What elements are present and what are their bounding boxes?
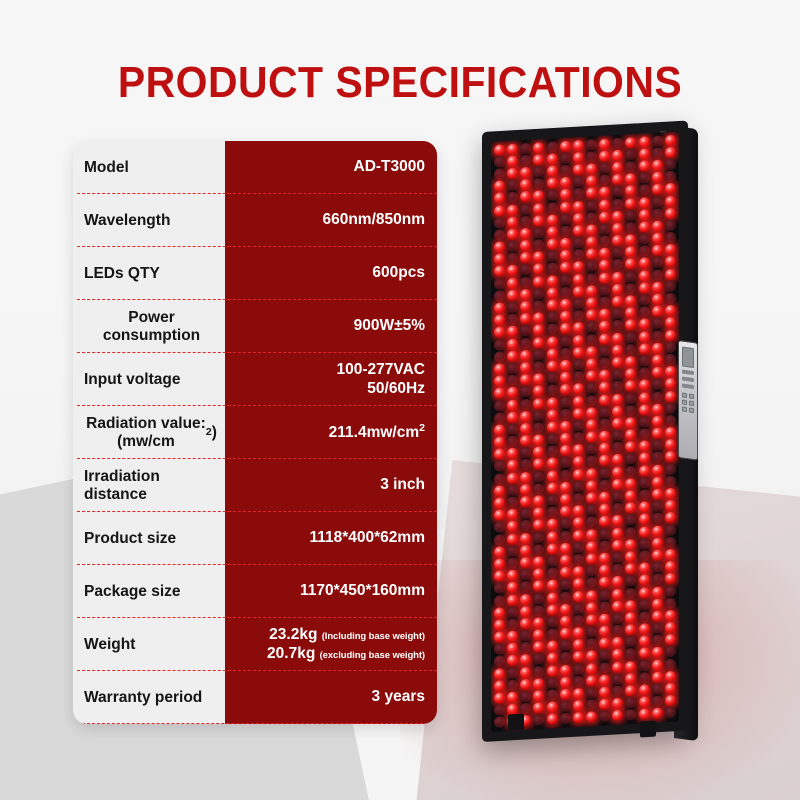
led-unlit bbox=[547, 251, 558, 263]
led-lit bbox=[652, 476, 663, 488]
led-unlit bbox=[625, 453, 636, 465]
spec-row: Warranty period3 years bbox=[73, 671, 437, 724]
led-unlit bbox=[573, 663, 584, 675]
control-panel[interactable] bbox=[678, 340, 698, 461]
led-lit bbox=[507, 216, 518, 228]
led-lit bbox=[612, 515, 623, 527]
led-lit bbox=[625, 624, 636, 636]
led-unlit bbox=[560, 713, 571, 725]
led-unlit bbox=[560, 225, 571, 237]
led-unlit bbox=[639, 294, 650, 306]
led-lit bbox=[560, 494, 571, 506]
led-unlit bbox=[625, 648, 636, 660]
led-lit bbox=[665, 268, 676, 280]
led-lit bbox=[612, 539, 623, 551]
led-lit bbox=[494, 509, 505, 521]
led-unlit bbox=[586, 200, 597, 212]
led-unlit bbox=[507, 679, 518, 691]
led-lit bbox=[507, 289, 518, 301]
led-lit bbox=[652, 293, 663, 305]
led-lit bbox=[560, 420, 571, 432]
led-lit bbox=[639, 160, 650, 172]
led-lit bbox=[665, 195, 676, 207]
led-lit bbox=[494, 144, 505, 156]
spec-row: Powerconsumption900W±5% bbox=[73, 300, 437, 353]
led-lit bbox=[599, 638, 610, 650]
led-lit bbox=[652, 647, 663, 659]
spec-value: 211.4mw/cm2 bbox=[225, 406, 437, 459]
led-unlit bbox=[560, 579, 571, 591]
spec-label: Package size bbox=[73, 565, 225, 618]
device-foot bbox=[640, 721, 656, 738]
led-lit bbox=[547, 604, 558, 616]
led-unlit bbox=[560, 286, 571, 298]
led-unlit bbox=[560, 530, 571, 542]
led-lit bbox=[612, 710, 623, 722]
led-unlit bbox=[612, 491, 623, 503]
spec-row: Product size1118*400*62mm bbox=[73, 512, 437, 565]
led-unlit bbox=[507, 667, 518, 679]
led-lit bbox=[586, 431, 597, 443]
led-unlit bbox=[625, 514, 636, 526]
led-lit bbox=[560, 689, 571, 701]
led-unlit bbox=[547, 494, 558, 506]
control-panel-button[interactable] bbox=[689, 400, 694, 406]
control-panel-buttons[interactable] bbox=[682, 393, 694, 414]
led-lit bbox=[625, 173, 636, 185]
led-lit bbox=[533, 568, 544, 580]
led-lit bbox=[520, 484, 531, 496]
spec-row: Package size1170*450*160mm bbox=[73, 565, 437, 618]
led-unlit bbox=[520, 398, 531, 410]
led-lit bbox=[573, 700, 584, 712]
led-lit bbox=[639, 709, 650, 721]
red-light-therapy-panel bbox=[482, 118, 712, 758]
led-lit bbox=[533, 495, 544, 507]
product-specifications-slide: PRODUCT SPECIFICATIONS ModelAD-T3000Wave… bbox=[0, 0, 800, 800]
led-lit bbox=[612, 527, 623, 539]
spec-row: Radiation value:(mw/cm2 )211.4mw/cm2 bbox=[73, 406, 437, 459]
led-unlit bbox=[639, 233, 650, 245]
led-lit bbox=[520, 496, 531, 508]
led-unlit bbox=[573, 603, 584, 615]
led-unlit bbox=[652, 562, 663, 574]
led-lit bbox=[639, 684, 650, 696]
led-unlit bbox=[599, 479, 610, 491]
led-unlit bbox=[665, 536, 676, 548]
led-unlit bbox=[665, 171, 676, 183]
led-unlit bbox=[665, 354, 676, 366]
led-lit bbox=[520, 228, 531, 240]
led-lit bbox=[665, 207, 676, 219]
led-unlit bbox=[520, 459, 531, 471]
led-unlit bbox=[665, 402, 676, 414]
device-led-face bbox=[491, 131, 679, 732]
led-lit bbox=[652, 172, 663, 184]
led-unlit bbox=[560, 274, 571, 286]
led-lit bbox=[639, 343, 650, 355]
led-unlit bbox=[573, 237, 584, 249]
spec-row: Weight23.2kg (Including base weight)20.7… bbox=[73, 618, 437, 671]
led-lit bbox=[625, 319, 636, 331]
led-unlit bbox=[639, 611, 650, 623]
led-unlit bbox=[652, 440, 663, 452]
led-lit bbox=[507, 631, 518, 643]
led-lit bbox=[625, 258, 636, 270]
led-unlit bbox=[507, 241, 518, 253]
led-lit bbox=[612, 454, 623, 466]
led-lit bbox=[520, 666, 531, 678]
led-unlit bbox=[573, 676, 584, 688]
led-unlit bbox=[494, 278, 505, 290]
control-panel-button[interactable] bbox=[689, 393, 694, 399]
led-lit bbox=[599, 686, 610, 698]
led-lit bbox=[612, 332, 623, 344]
led-unlit bbox=[560, 165, 571, 177]
led-unlit bbox=[547, 141, 558, 153]
led-lit bbox=[665, 305, 676, 317]
led-unlit bbox=[599, 589, 610, 601]
spec-value: 23.2kg (Including base weight)20.7kg (ex… bbox=[225, 618, 437, 671]
led-unlit bbox=[560, 652, 571, 664]
led-unlit bbox=[639, 672, 650, 684]
led-lit bbox=[612, 393, 623, 405]
led-unlit bbox=[652, 391, 663, 403]
led-unlit bbox=[612, 137, 623, 149]
led-lit bbox=[652, 342, 663, 354]
control-panel-button[interactable] bbox=[682, 393, 687, 399]
led-lit bbox=[560, 372, 571, 384]
led-lit bbox=[599, 211, 610, 223]
led-lit bbox=[547, 531, 558, 543]
led-lit bbox=[494, 631, 505, 643]
led-unlit bbox=[612, 381, 623, 393]
led-unlit bbox=[612, 442, 623, 454]
led-unlit bbox=[547, 677, 558, 689]
led-grid bbox=[493, 134, 677, 730]
led-lit bbox=[494, 205, 505, 217]
led-unlit bbox=[652, 379, 663, 391]
led-lit bbox=[599, 430, 610, 442]
led-unlit bbox=[507, 606, 518, 618]
led-unlit bbox=[494, 156, 505, 168]
led-unlit bbox=[560, 640, 571, 652]
control-panel-indicator bbox=[682, 370, 694, 376]
led-lit bbox=[586, 163, 597, 175]
led-lit bbox=[573, 468, 584, 480]
led-unlit bbox=[599, 235, 610, 247]
led-unlit bbox=[599, 650, 610, 662]
led-unlit bbox=[639, 538, 650, 550]
spec-label: Radiation value:(mw/cm2 ) bbox=[73, 406, 225, 459]
led-lit bbox=[639, 440, 650, 452]
led-lit bbox=[665, 488, 676, 500]
led-lit bbox=[560, 628, 571, 640]
led-unlit bbox=[560, 457, 571, 469]
led-lit bbox=[639, 453, 650, 465]
led-lit bbox=[573, 578, 584, 590]
led-lit bbox=[560, 384, 571, 396]
led-lit bbox=[533, 556, 544, 568]
led-lit bbox=[639, 209, 650, 221]
led-lit bbox=[639, 526, 650, 538]
led-unlit bbox=[494, 168, 505, 180]
led-unlit bbox=[586, 456, 597, 468]
led-unlit bbox=[599, 711, 610, 723]
led-lit bbox=[612, 296, 623, 308]
led-lit bbox=[612, 223, 623, 235]
led-lit bbox=[586, 675, 597, 687]
led-lit bbox=[652, 354, 663, 366]
led-unlit bbox=[520, 447, 531, 459]
led-unlit bbox=[586, 212, 597, 224]
led-lit bbox=[573, 444, 584, 456]
led-unlit bbox=[547, 506, 558, 518]
led-lit bbox=[494, 327, 505, 339]
spec-label: Warranty period bbox=[73, 671, 225, 724]
led-lit bbox=[652, 184, 663, 196]
led-lit bbox=[639, 574, 650, 586]
led-lit bbox=[612, 649, 623, 661]
led-unlit bbox=[665, 646, 676, 658]
led-lit bbox=[494, 497, 505, 509]
led-lit bbox=[547, 238, 558, 250]
led-lit bbox=[625, 185, 636, 197]
led-unlit bbox=[494, 217, 505, 229]
led-unlit bbox=[507, 180, 518, 192]
led-lit bbox=[560, 555, 571, 567]
led-lit bbox=[639, 270, 650, 282]
led-lit bbox=[533, 276, 544, 288]
led-unlit bbox=[625, 526, 636, 538]
led-lit bbox=[665, 622, 676, 634]
spec-value-line: AD-T3000 bbox=[354, 158, 426, 177]
led-lit bbox=[520, 593, 531, 605]
led-lit bbox=[586, 663, 597, 675]
led-unlit bbox=[625, 575, 636, 587]
led-lit bbox=[599, 504, 610, 516]
led-lit bbox=[639, 587, 650, 599]
led-unlit bbox=[612, 186, 623, 198]
spec-value: 1170*450*160mm bbox=[225, 565, 437, 618]
led-unlit bbox=[494, 400, 505, 412]
spec-value-line: 50/60Hz bbox=[337, 380, 425, 399]
led-lit bbox=[560, 481, 571, 493]
led-lit bbox=[547, 214, 558, 226]
led-lit bbox=[547, 397, 558, 409]
led-lit bbox=[586, 297, 597, 309]
led-lit bbox=[494, 448, 505, 460]
led-lit bbox=[639, 221, 650, 233]
led-unlit bbox=[599, 418, 610, 430]
led-lit bbox=[520, 557, 531, 569]
led-lit bbox=[547, 458, 558, 470]
led-lit bbox=[612, 637, 623, 649]
led-lit bbox=[573, 395, 584, 407]
led-lit bbox=[507, 643, 518, 655]
led-lit bbox=[507, 387, 518, 399]
led-unlit bbox=[586, 565, 597, 577]
led-lit bbox=[599, 199, 610, 211]
led-unlit bbox=[533, 410, 544, 422]
led-unlit bbox=[560, 591, 571, 603]
led-lit bbox=[494, 241, 505, 253]
led-unlit bbox=[547, 385, 558, 397]
led-lit bbox=[533, 324, 544, 336]
led-lit bbox=[665, 439, 676, 451]
control-panel-button[interactable] bbox=[682, 400, 687, 406]
led-unlit bbox=[586, 382, 597, 394]
led-unlit bbox=[494, 583, 505, 595]
led-lit bbox=[652, 367, 663, 379]
led-lit bbox=[547, 360, 558, 372]
led-lit bbox=[612, 466, 623, 478]
led-unlit bbox=[533, 714, 544, 726]
led-lit bbox=[533, 678, 544, 690]
led-unlit bbox=[625, 161, 636, 173]
led-lit bbox=[586, 419, 597, 431]
led-lit bbox=[573, 590, 584, 602]
led-lit bbox=[625, 368, 636, 380]
led-lit bbox=[652, 232, 663, 244]
led-unlit bbox=[625, 222, 636, 234]
led-lit bbox=[573, 712, 584, 724]
led-lit bbox=[547, 153, 558, 165]
led-unlit bbox=[625, 709, 636, 721]
led-lit bbox=[533, 215, 544, 227]
led-unlit bbox=[533, 532, 544, 544]
led-unlit bbox=[494, 704, 505, 716]
led-unlit bbox=[533, 544, 544, 556]
led-unlit bbox=[599, 174, 610, 186]
led-unlit bbox=[599, 540, 610, 552]
led-unlit bbox=[612, 259, 623, 271]
led-lit bbox=[494, 558, 505, 570]
led-lit bbox=[547, 287, 558, 299]
led-lit bbox=[652, 598, 663, 610]
led-unlit bbox=[586, 638, 597, 650]
led-unlit bbox=[652, 622, 663, 634]
led-lit bbox=[520, 423, 531, 435]
led-lit bbox=[625, 356, 636, 368]
led-unlit bbox=[560, 152, 571, 164]
led-lit bbox=[507, 472, 518, 484]
led-lit bbox=[639, 319, 650, 331]
led-unlit bbox=[665, 597, 676, 609]
led-lit bbox=[599, 260, 610, 272]
led-lit bbox=[507, 326, 518, 338]
led-unlit bbox=[639, 184, 650, 196]
led-lit bbox=[547, 714, 558, 726]
led-unlit bbox=[599, 357, 610, 369]
led-lit bbox=[494, 180, 505, 192]
led-unlit bbox=[652, 574, 663, 586]
led-lit bbox=[560, 664, 571, 676]
led-unlit bbox=[612, 247, 623, 259]
led-unlit bbox=[533, 300, 544, 312]
led-lit bbox=[573, 200, 584, 212]
led-unlit bbox=[639, 367, 650, 379]
led-lit bbox=[533, 641, 544, 653]
led-lit bbox=[494, 692, 505, 704]
led-unlit bbox=[520, 508, 531, 520]
led-unlit bbox=[625, 210, 636, 222]
spec-value-line: 23.2kg (Including base weight) bbox=[267, 626, 425, 645]
led-lit bbox=[573, 566, 584, 578]
led-unlit bbox=[665, 658, 676, 670]
led-lit bbox=[586, 370, 597, 382]
led-lit bbox=[665, 695, 676, 707]
led-unlit bbox=[573, 310, 584, 322]
led-unlit bbox=[520, 325, 531, 337]
led-lit bbox=[560, 177, 571, 189]
led-unlit bbox=[639, 245, 650, 257]
led-lit bbox=[652, 549, 663, 561]
led-unlit bbox=[599, 296, 610, 308]
led-lit bbox=[507, 277, 518, 289]
control-panel-button[interactable] bbox=[689, 407, 694, 413]
led-lit bbox=[520, 679, 531, 691]
led-lit bbox=[573, 529, 584, 541]
led-unlit bbox=[533, 349, 544, 361]
led-unlit bbox=[547, 628, 558, 640]
led-lit bbox=[533, 142, 544, 154]
led-unlit bbox=[533, 653, 544, 665]
led-lit bbox=[625, 539, 636, 551]
led-unlit bbox=[612, 613, 623, 625]
led-lit bbox=[612, 210, 623, 222]
led-lit bbox=[586, 480, 597, 492]
led-lit bbox=[599, 309, 610, 321]
led-lit bbox=[560, 201, 571, 213]
led-unlit bbox=[639, 172, 650, 184]
led-lit bbox=[520, 435, 531, 447]
led-lit bbox=[599, 516, 610, 528]
spec-value: 3 inch bbox=[225, 459, 437, 512]
led-lit bbox=[547, 653, 558, 665]
led-lit bbox=[573, 383, 584, 395]
led-lit bbox=[612, 174, 623, 186]
led-lit bbox=[639, 404, 650, 416]
led-lit bbox=[533, 312, 544, 324]
led-lit bbox=[639, 514, 650, 526]
led-lit bbox=[652, 610, 663, 622]
led-unlit bbox=[507, 314, 518, 326]
led-lit bbox=[652, 659, 663, 671]
led-lit bbox=[533, 398, 544, 410]
led-lit bbox=[665, 549, 676, 561]
led-unlit bbox=[494, 595, 505, 607]
led-unlit bbox=[520, 276, 531, 288]
led-lit bbox=[665, 610, 676, 622]
led-unlit bbox=[652, 635, 663, 647]
led-unlit bbox=[520, 203, 531, 215]
device-foot bbox=[508, 714, 524, 731]
led-lit bbox=[625, 612, 636, 624]
control-panel-button[interactable] bbox=[682, 407, 687, 413]
led-unlit bbox=[665, 293, 676, 305]
led-lit bbox=[573, 334, 584, 346]
led-lit bbox=[547, 409, 558, 421]
led-unlit bbox=[573, 432, 584, 444]
led-lit bbox=[573, 517, 584, 529]
led-unlit bbox=[547, 446, 558, 458]
led-unlit bbox=[586, 577, 597, 589]
led-lit bbox=[652, 537, 663, 549]
led-lit bbox=[533, 154, 544, 166]
spec-label: Irradiation distance bbox=[73, 459, 225, 512]
led-lit bbox=[625, 685, 636, 697]
